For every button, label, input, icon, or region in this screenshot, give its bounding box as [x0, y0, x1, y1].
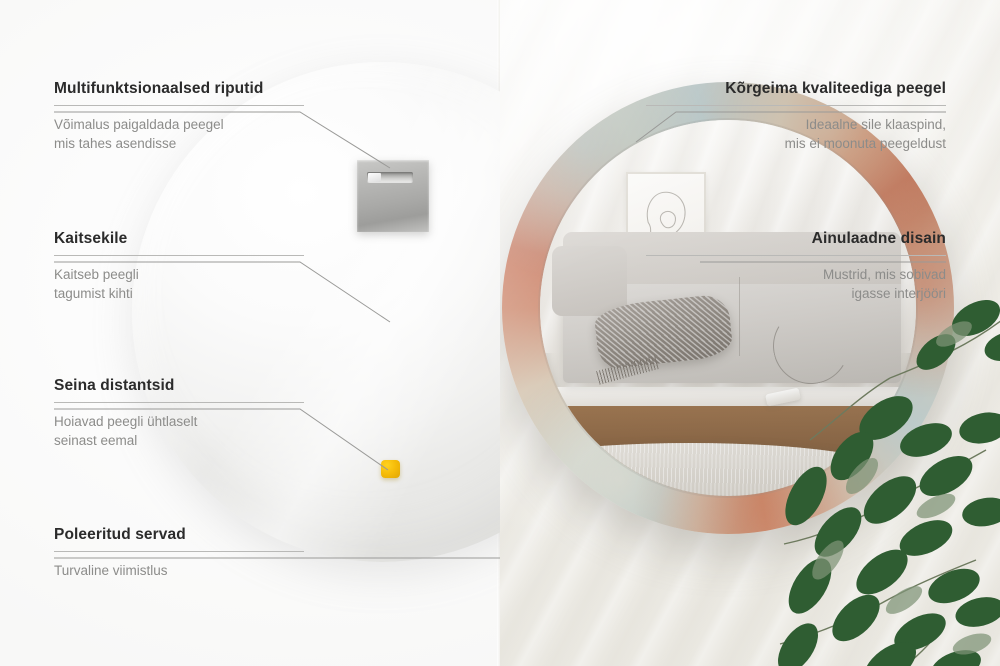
- callout-rule: [646, 255, 946, 256]
- callout-description: Kaitseb peegli tagumist kihti: [54, 265, 304, 303]
- callout-rule: [646, 105, 946, 106]
- callout-rule: [54, 105, 304, 106]
- mirror-glass-reflection: [540, 120, 916, 496]
- callout-multifunctional-hangers: Multifunktsionaalsed riputid Võimalus pa…: [54, 80, 304, 153]
- mirror-hanger-bracket: [357, 160, 429, 232]
- callout-title: Seina distantsid: [54, 377, 304, 395]
- callout-description: Ideaalne sile klaaspind, mis ei moonuta …: [646, 115, 946, 153]
- keyhole-slot-icon: [367, 172, 413, 183]
- yellow-wall-spacer: [381, 460, 400, 478]
- callout-description: Võimalus paigaldada peegel mis tahes ase…: [54, 115, 304, 153]
- callout-description: Mustrid, mis sobivad igasse interjööri: [646, 265, 946, 303]
- callout-title: Multifunktsionaalsed riputid: [54, 80, 304, 98]
- reflected-throw-fringe: [597, 355, 661, 385]
- callout-unique-design: Ainulaadne disain Mustrid, mis sobivad i…: [646, 230, 946, 303]
- reflected-sofa-arm: [552, 246, 626, 316]
- callout-polished-edges: Poleeritud servad Turvaline viimistlus: [54, 526, 304, 580]
- callout-description: Hoiavad peegli ühtlaselt seinast eemal: [54, 412, 304, 450]
- callout-title: Poleeritud servad: [54, 526, 304, 544]
- callout-highest-quality-mirror: Kõrgeima kvaliteediga peegel Ideaalne si…: [646, 80, 946, 153]
- callout-protective-film: Kaitsekile Kaitseb peegli tagumist kihti: [54, 230, 304, 303]
- callout-title: Kaitsekile: [54, 230, 304, 248]
- reflected-baseboard: [540, 387, 916, 406]
- callout-title: Kõrgeima kvaliteediga peegel: [646, 80, 946, 98]
- infographic-canvas: Multifunktsionaalsed riputid Võimalus pa…: [0, 0, 1000, 666]
- callout-rule: [54, 551, 304, 552]
- callout-description: Turvaline viimistlus: [54, 561, 304, 580]
- callout-rule: [54, 255, 304, 256]
- callout-title: Ainulaadne disain: [646, 230, 946, 248]
- callout-rule: [54, 402, 304, 403]
- callout-wall-spacers: Seina distantsid Hoiavad peegli ühtlasel…: [54, 377, 304, 450]
